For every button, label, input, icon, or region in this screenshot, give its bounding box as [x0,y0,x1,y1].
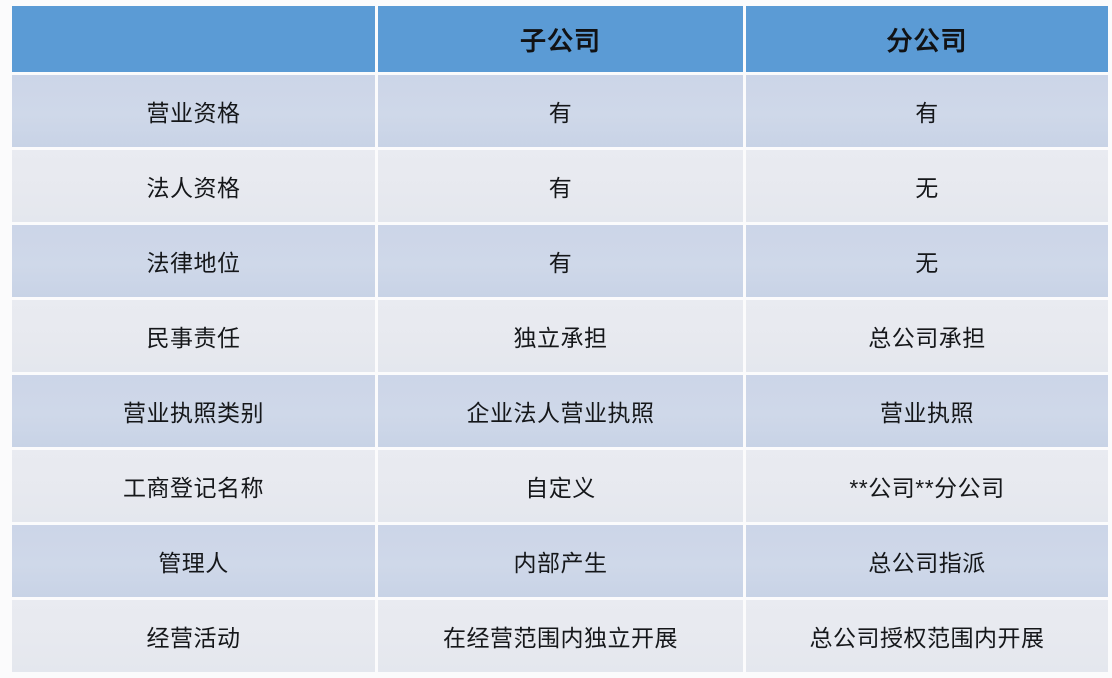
cell-branch: 总公司承担 [746,300,1108,372]
table-row: 管理人 内部产生 总公司指派 [12,525,1108,597]
cell-attribute: 营业资格 [12,75,375,147]
table-row: 法人资格 有 无 [12,150,1108,222]
cell-subsidiary: 内部产生 [378,525,743,597]
table-header: 子公司 分公司 [12,6,1108,72]
table-row: 工商登记名称 自定义 **公司**分公司 [12,450,1108,522]
cell-branch: 总公司指派 [746,525,1108,597]
cell-branch: 总公司授权范围内开展 [746,600,1108,672]
cell-attribute: 民事责任 [12,300,375,372]
cell-branch: 无 [746,225,1108,297]
comparison-table-container: 子公司 分公司 营业资格 有 有 法人资格 有 无 法律地位 有 无 民事责任 [12,6,1100,678]
cell-attribute: 工商登记名称 [12,450,375,522]
table-row: 营业执照类别 企业法人营业执照 营业执照 [12,375,1108,447]
column-header-branch: 分公司 [746,6,1108,72]
cell-subsidiary: 有 [378,75,743,147]
cell-subsidiary: 独立承担 [378,300,743,372]
cell-attribute: 法人资格 [12,150,375,222]
cell-subsidiary: 有 [378,150,743,222]
cell-subsidiary: 企业法人营业执照 [378,375,743,447]
cell-branch: 有 [746,75,1108,147]
cell-subsidiary: 自定义 [378,450,743,522]
cell-branch: **公司**分公司 [746,450,1108,522]
cell-attribute: 营业执照类别 [12,375,375,447]
cell-attribute: 经营活动 [12,600,375,672]
table-body: 营业资格 有 有 法人资格 有 无 法律地位 有 无 民事责任 独立承担 总公司… [12,75,1108,672]
table-header-row: 子公司 分公司 [12,6,1108,72]
table-row: 法律地位 有 无 [12,225,1108,297]
table-row: 民事责任 独立承担 总公司承担 [12,300,1108,372]
cell-branch: 无 [746,150,1108,222]
comparison-table: 子公司 分公司 营业资格 有 有 法人资格 有 无 法律地位 有 无 民事责任 [9,3,1111,675]
table-row: 经营活动 在经营范围内独立开展 总公司授权范围内开展 [12,600,1108,672]
cell-attribute: 管理人 [12,525,375,597]
column-header-subsidiary: 子公司 [378,6,743,72]
cell-attribute: 法律地位 [12,225,375,297]
cell-subsidiary: 有 [378,225,743,297]
cell-subsidiary: 在经营范围内独立开展 [378,600,743,672]
cell-branch: 营业执照 [746,375,1108,447]
column-header-attribute [12,6,375,72]
table-row: 营业资格 有 有 [12,75,1108,147]
